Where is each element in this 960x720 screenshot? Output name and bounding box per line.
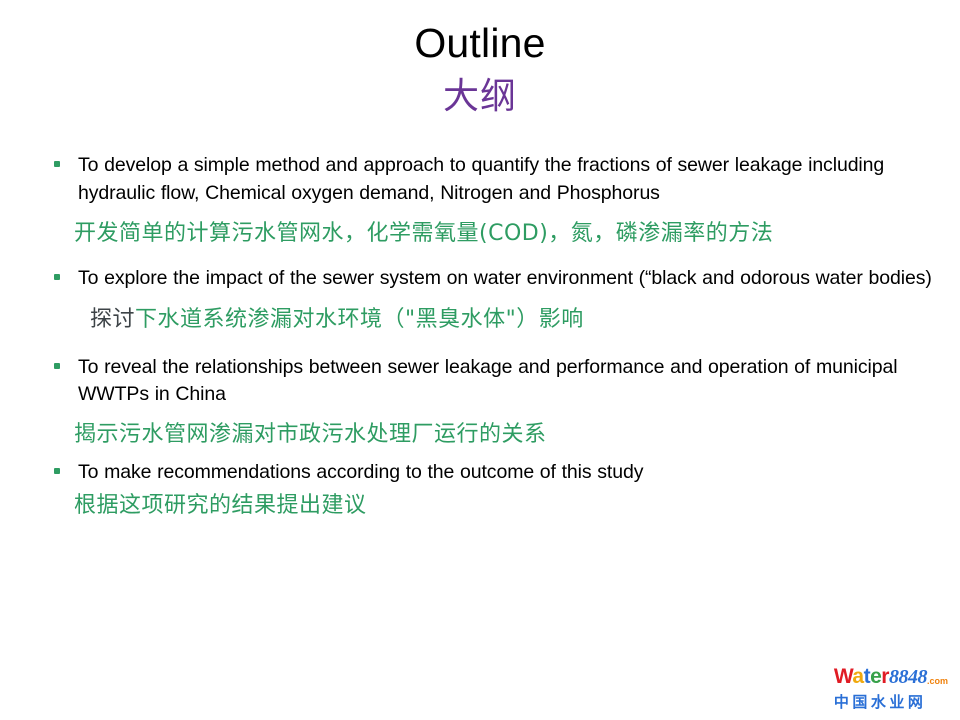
logo-letter-r: r: [881, 665, 889, 688]
logo-letter-e: e: [870, 665, 881, 688]
logo-letter-a: a: [852, 665, 863, 688]
page-title-chinese: 大纲: [0, 72, 960, 120]
bullet-chinese-rest: 根据这项研究的结果提出建议: [74, 493, 367, 518]
bullet-chinese-rest: 下水道系统渗漏对水环境（"黑臭水体"）影响: [135, 307, 584, 332]
slide-title-block: Outline 大纲: [0, 18, 960, 120]
bullet-text-english: To explore the impact of the sewer syste…: [78, 267, 932, 289]
bullet-chinese-lead: 探讨: [90, 307, 135, 332]
bullet-chinese-rest: 开发简单的计算污水管网水，化学需氧量(COD)，氮，磷渗漏率的方法: [74, 221, 773, 246]
watermark-wordmark: Water8848.com: [834, 665, 948, 693]
bullet-text-chinese: 开发简单的计算污水管网水，化学需氧量(COD)，氮，磷渗漏率的方法: [44, 218, 934, 249]
bullet-group-4: To make recommendations according to the…: [44, 459, 934, 522]
bullet-chinese-rest: 揭示污水管网渗漏对市政污水处理厂运行的关系: [74, 422, 547, 447]
bullet-text-english: To reveal the relationships between sewe…: [78, 356, 897, 406]
logo-letter-w: W: [834, 665, 853, 688]
list-item: To explore the impact of the sewer syste…: [44, 265, 934, 293]
list-item: To make recommendations according to the…: [44, 459, 934, 487]
watermark-subtitle: 中国水业网: [834, 693, 948, 712]
list-item: To reveal the relationships between sewe…: [44, 354, 934, 409]
square-bullet-icon: [54, 274, 60, 280]
square-bullet-icon: [54, 161, 60, 167]
bullet-group-3: To reveal the relationships between sewe…: [44, 354, 934, 450]
bullet-text-chinese: 揭示污水管网渗漏对市政污水处理厂运行的关系: [44, 419, 934, 450]
slide-body: To develop a simple method and approach …: [44, 152, 934, 521]
list-item: To develop a simple method and approach …: [44, 152, 934, 207]
logo-number: 8848: [889, 666, 927, 688]
square-bullet-icon: [54, 363, 60, 369]
bullet-text-chinese: 根据这项研究的结果提出建议: [44, 490, 934, 521]
logo-tld: .com: [927, 676, 948, 686]
bullet-text-english: To make recommendations according to the…: [78, 461, 643, 483]
bullet-group-1: To develop a simple method and approach …: [44, 152, 934, 249]
bullet-text-english: To develop a simple method and approach …: [78, 154, 884, 204]
watermark-logo: Water8848.com 中国水业网: [834, 665, 948, 712]
page-title: Outline: [0, 18, 960, 68]
slide-canvas: Outline 大纲 To develop a simple method an…: [0, 0, 960, 720]
bullet-text-chinese: 探讨下水道系统渗漏对水环境（"黑臭水体"）影响: [44, 304, 934, 335]
bullet-group-2: To explore the impact of the sewer syste…: [44, 265, 934, 335]
square-bullet-icon: [54, 468, 60, 474]
